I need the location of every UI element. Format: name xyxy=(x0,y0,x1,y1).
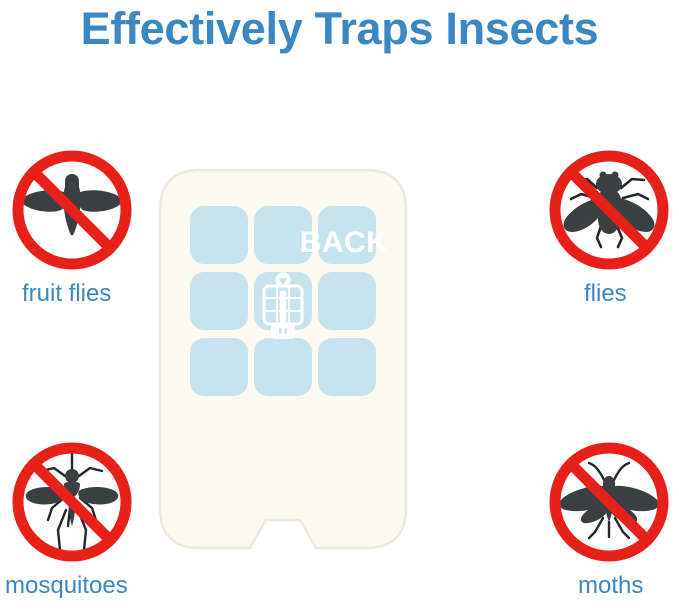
badge-label-fruit-flies: fruit flies xyxy=(22,280,111,308)
no-mosquito-icon xyxy=(8,438,136,566)
no-fly-icon xyxy=(545,146,673,274)
page-title: Effectively Traps Insects xyxy=(0,2,679,56)
badge-label-flies: flies xyxy=(584,280,627,308)
no-fruit-fly-icon xyxy=(8,146,136,274)
badge-label-mosquitoes: mosquitoes xyxy=(5,572,128,600)
sticky-refill-card xyxy=(158,168,408,550)
badge-label-moths: moths xyxy=(578,572,643,600)
no-moth-icon xyxy=(545,438,673,566)
